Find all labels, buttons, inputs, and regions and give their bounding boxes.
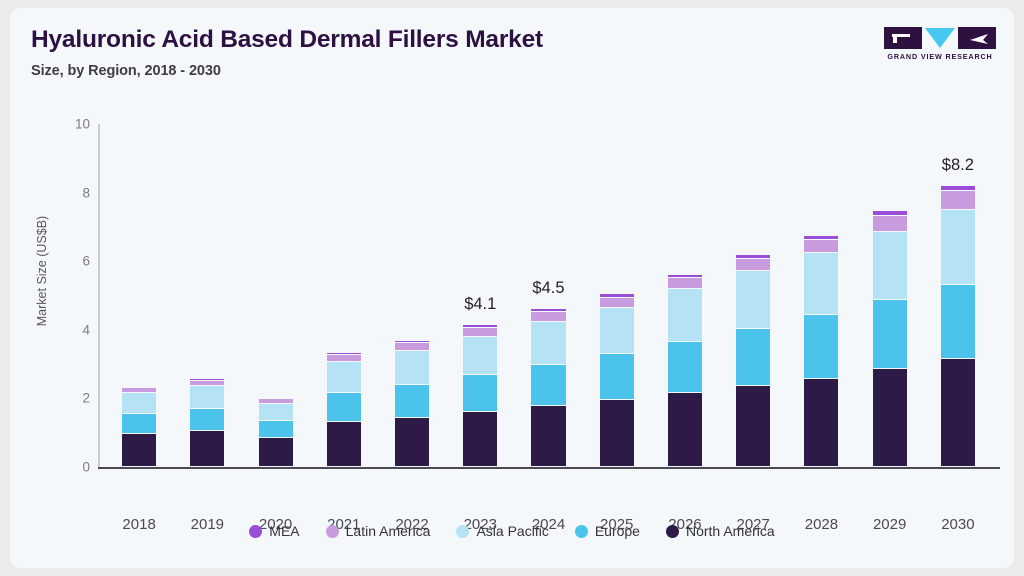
x-axis-line [98,467,1000,469]
bar-value-label: $8.2 [898,156,1014,175]
legend-swatch-icon [666,525,679,538]
bar-segment[interactable] [531,312,565,322]
bar-column[interactable] [327,104,361,504]
legend-swatch-icon [575,525,588,538]
chart-card: Hyaluronic Acid Based Dermal Fillers Mar… [10,8,1014,568]
bar-segment[interactable] [463,325,497,328]
chart-legend: MEALatin AmericaAsia PacificEuropeNorth … [10,523,1014,539]
bar-segment[interactable] [668,275,702,279]
chart-header: Hyaluronic Acid Based Dermal Fillers Mar… [10,8,1014,104]
bar-segment[interactable] [804,240,838,253]
bar-column[interactable] [736,104,770,504]
bar-segment[interactable] [259,399,293,403]
y-axis-tick-0: 0 [50,460,90,475]
y-axis-line [98,124,100,467]
bar-segment[interactable] [736,329,770,386]
bar-segment[interactable] [873,300,907,369]
bar-segment[interactable] [736,386,770,467]
legend-label: North America [686,523,775,539]
bar-segment[interactable] [122,388,156,393]
bar-segment[interactable] [395,351,429,385]
legend-item-mea[interactable]: MEA [249,523,299,539]
page-title: Hyaluronic Acid Based Dermal Fillers Mar… [31,26,543,54]
bar-segment[interactable] [463,412,497,467]
bar-segment[interactable] [122,387,156,388]
bar-segment[interactable] [668,393,702,467]
bar-segment[interactable] [463,328,497,337]
y-axis-tick-4: 4 [50,322,90,337]
bar-segment[interactable] [873,369,907,467]
bar-segment[interactable] [259,398,293,399]
legend-item-europe[interactable]: Europe [575,523,640,539]
legend-swatch-icon [249,525,262,538]
legend-item-asia-pacific[interactable]: Asia Pacific [456,523,548,539]
bar-segment[interactable] [327,422,361,467]
y-axis-tick-6: 6 [50,254,90,269]
bar-segment[interactable] [531,406,565,467]
bar-segment[interactable] [804,236,838,240]
bar-column[interactable]: $8.2 [941,104,975,504]
brand-logo: GRAND VIEW RESEARCH [884,26,996,66]
bar-segment[interactable] [259,438,293,467]
bar-segment[interactable] [941,186,975,191]
logo-g-mark-icon [884,27,922,49]
logo-mark-svg [884,26,996,50]
bar-segment[interactable] [600,294,634,297]
bar-segment[interactable] [873,232,907,301]
legend-label: Asia Pacific [476,523,548,539]
bar-segment[interactable] [668,278,702,289]
legend-swatch-icon [326,525,339,538]
bar-segment[interactable] [600,308,634,355]
bar-segment[interactable] [463,337,497,375]
bar-segment[interactable] [736,255,770,259]
bar-column[interactable] [259,104,293,504]
bar-segment[interactable] [531,365,565,406]
bar-column[interactable] [122,104,156,504]
bar-segment[interactable] [600,298,634,308]
bar-segment[interactable] [395,385,429,418]
bar-segment[interactable] [736,271,770,329]
bar-segment[interactable] [941,210,975,285]
bar-segment[interactable] [122,434,156,467]
bar-value-label: $4.5 [488,279,608,298]
bar-segment[interactable] [941,359,975,467]
bar-segment[interactable] [190,409,224,431]
bar-segment[interactable] [259,421,293,438]
bar-segment[interactable] [668,342,702,393]
bar-segment[interactable] [327,355,361,363]
bar-segment[interactable] [941,191,975,210]
bar-segment[interactable] [804,379,838,467]
bar-segment[interactable] [122,414,156,435]
bar-segment[interactable] [600,400,634,467]
bar-segment[interactable] [122,393,156,414]
bar-series-group: $4.1$4.5$8.2 [105,104,992,504]
bar-segment[interactable] [190,431,224,467]
bar-segment[interactable] [804,315,838,378]
chart-plot-area: Market Size (US$B) 0246810 $4.1$4.5$8.2 [10,104,1014,504]
bar-segment[interactable] [531,309,565,312]
legend-item-latin-america[interactable]: Latin America [326,523,431,539]
bar-segment[interactable] [668,289,702,342]
bar-segment[interactable] [327,362,361,392]
bar-segment[interactable] [190,379,224,380]
bar-segment[interactable] [259,404,293,421]
bar-segment[interactable] [804,253,838,315]
bar-segment[interactable] [395,418,429,467]
legend-label: Europe [595,523,640,539]
legend-item-north-america[interactable]: North America [666,523,775,539]
legend-label: MEA [269,523,299,539]
bar-segment[interactable] [600,354,634,400]
legend-swatch-icon [456,525,469,538]
bar-segment[interactable] [463,375,497,412]
bar-column[interactable]: $4.1 [463,104,497,504]
logo-triangle-icon [925,28,955,48]
bar-column[interactable] [804,104,838,504]
bar-segment[interactable] [190,381,224,387]
y-axis-tick-10: 10 [50,117,90,132]
bar-segment[interactable] [873,216,907,232]
y-axis-ticks: 0246810 [40,104,90,504]
bar-segment[interactable] [395,343,429,351]
y-axis-tick-2: 2 [50,391,90,406]
bar-segment[interactable] [327,393,361,422]
bar-column[interactable] [600,104,634,504]
bar-column[interactable] [668,104,702,504]
logo-mark [884,26,996,50]
page-subtitle: Size, by Region, 2018 - 2030 [31,63,221,79]
bar-column[interactable] [190,104,224,504]
bar-column[interactable]: $4.5 [531,104,565,504]
bar-segment[interactable] [736,259,770,271]
bar-segment[interactable] [941,285,975,359]
y-axis-tick-8: 8 [50,185,90,200]
bar-segment[interactable] [873,211,907,216]
legend-label: Latin America [346,523,431,539]
bar-segment[interactable] [531,322,565,365]
bar-segment[interactable] [190,386,224,408]
bar-segment[interactable] [327,353,361,355]
bar-segment[interactable] [395,341,429,343]
logo-wordmark: GRAND VIEW RESEARCH [884,52,996,61]
